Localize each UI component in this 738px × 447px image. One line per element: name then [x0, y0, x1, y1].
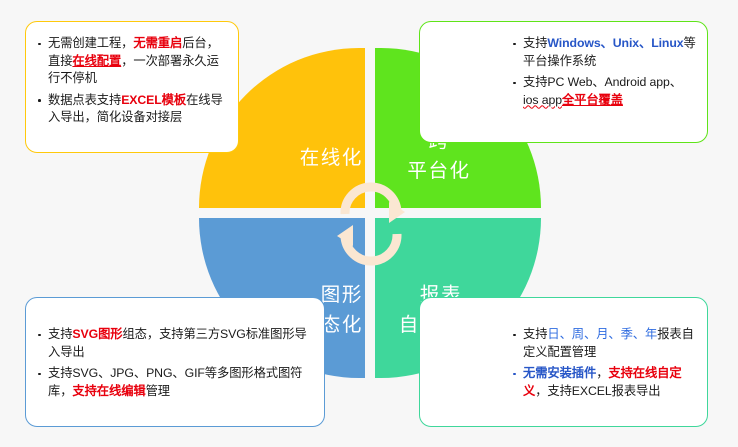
text-run-1: ios app — [523, 93, 562, 107]
callout-list: 支持Windows、Unix、Linux等平台操作系统 支持PC Web、And… — [512, 35, 697, 109]
text-run-1: 支持在线编辑 — [72, 384, 145, 398]
text-run-0: 数据点表支持 — [48, 93, 121, 107]
list-item: 支持SVG、JPG、PNG、GIF等多图形格式图符库，支持在线编辑管理 — [37, 365, 315, 400]
text-run-0: 无需创建工程， — [48, 36, 133, 50]
text-run-2: 管理 — [146, 384, 170, 398]
text-run-1: 无需重启 — [133, 36, 182, 50]
callout-online: 无需创建工程，无需重启后台，直接在线配置，一次部署永久运行不停机 数据点表支持E… — [25, 21, 239, 153]
text-run-2: 全平台覆盖 — [562, 93, 623, 107]
list-item: 无需安装插件，支持在线自定义，支持EXCEL报表导出 — [512, 365, 697, 400]
list-item: 无需创建工程，无需重启后台，直接在线配置，一次部署永久运行不停机 — [37, 35, 229, 88]
quadrant-label-line1: 在线化 — [263, 143, 363, 173]
text-run-0: 无需安装插件 — [523, 366, 596, 380]
callout-list: 支持SVG图形组态，支持第三方SVG标准图形导入导出 支持SVG、JPG、PNG… — [37, 326, 315, 400]
cycle-arrows-svg — [335, 178, 407, 270]
text-run-3: 在线配置 — [72, 54, 121, 68]
text-run-1: 日、周、月、季、年 — [547, 327, 657, 341]
text-run-0: 支持 — [48, 327, 72, 341]
list-item: 支持Windows、Unix、Linux等平台操作系统 — [512, 35, 697, 70]
callout-list: 支持日、周、月、季、年报表自定义配置管理 无需安装插件，支持在线自定义，支持EX… — [512, 326, 697, 400]
text-run-1: EXCEL模板 — [121, 93, 186, 107]
callout-report-customization: 支持日、周、月、季、年报表自定义配置管理 无需安装插件，支持在线自定义，支持EX… — [419, 297, 708, 427]
text-run-1: SVG图形 — [72, 327, 122, 341]
text-run-0: 支持 — [523, 36, 547, 50]
text-run-1: Windows、Unix、Linux — [547, 36, 683, 50]
text-run-0: 支持PC Web、Android app、 — [523, 75, 682, 89]
cycle-arrows-icon — [335, 178, 407, 270]
infographic-canvas: 在线化 跨 平台化 图形 组态化 报表 自定义化 无需创建工程，无需重启后台，直… — [0, 0, 738, 447]
text-run-0: 支持 — [523, 327, 547, 341]
quadrant-label-online: 在线化 — [263, 143, 363, 173]
list-item: 支持SVG图形组态，支持第三方SVG标准图形导入导出 — [37, 326, 315, 361]
text-run-1: ， — [596, 366, 608, 380]
list-item: 支持日、周、月、季、年报表自定义配置管理 — [512, 326, 697, 361]
callout-graphics-configuration: 支持SVG图形组态，支持第三方SVG标准图形导入导出 支持SVG、JPG、PNG… — [25, 297, 325, 427]
callout-cross-platform: 支持Windows、Unix、Linux等平台操作系统 支持PC Web、And… — [419, 21, 708, 143]
callout-list: 无需创建工程，无需重启后台，直接在线配置，一次部署永久运行不停机 数据点表支持E… — [37, 35, 229, 127]
list-item: 数据点表支持EXCEL模板在线导入导出，简化设备对接层 — [37, 92, 229, 127]
list-item: 支持PC Web、Android app、ios app全平台覆盖 — [512, 74, 697, 109]
text-run-3: ，支持EXCEL报表导出 — [535, 384, 660, 398]
